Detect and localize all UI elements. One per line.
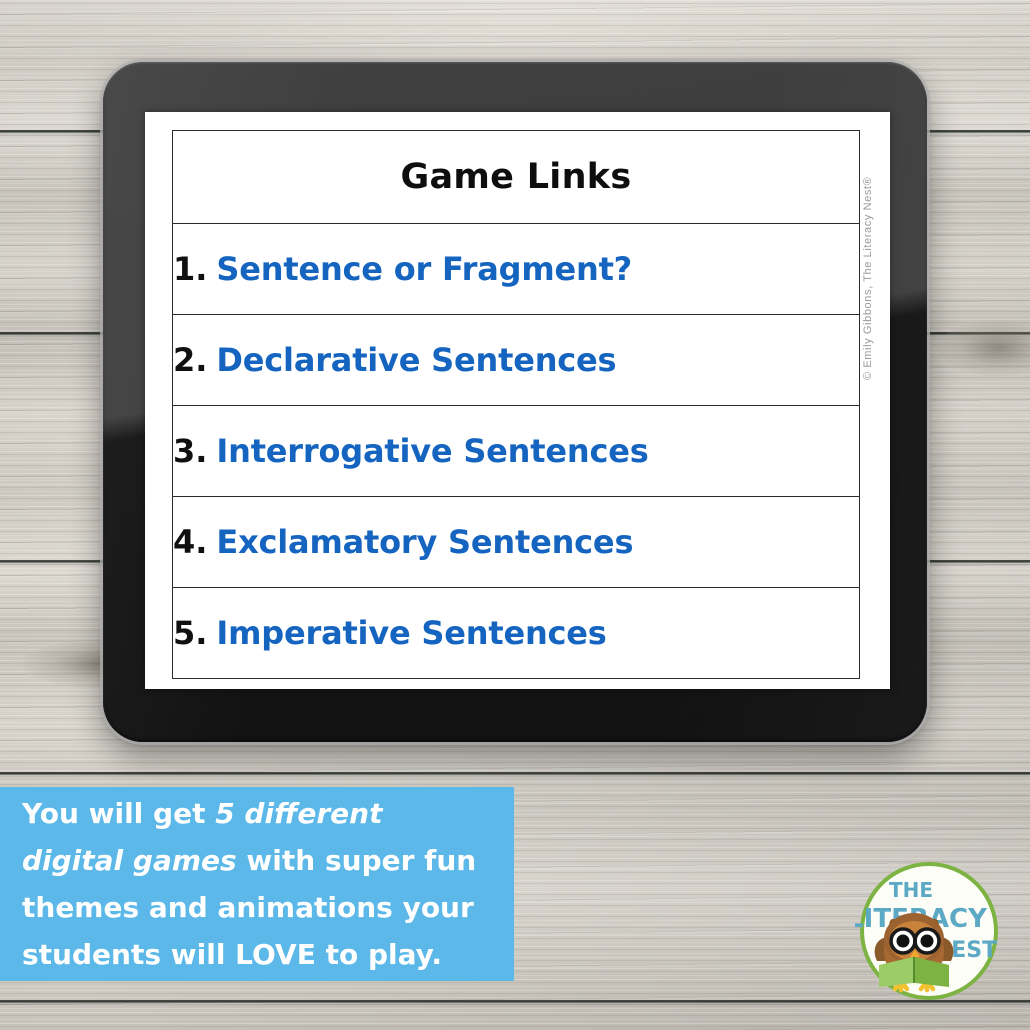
table-row: 3. Interrogative Sentences xyxy=(173,406,860,497)
game-link-imperative-sentences[interactable]: Imperative Sentences xyxy=(216,614,606,652)
list-number: 1. xyxy=(173,250,207,288)
game-links-table: Game Links 1. Sentence or Fragment? 2. xyxy=(172,130,860,679)
literacy-nest-logo-icon: THE LITERACY NEST xyxy=(855,857,1003,1005)
list-number: 4. xyxy=(173,523,207,561)
caption-lead: You will get xyxy=(22,797,215,830)
caption-text: You will get 5 different digital games w… xyxy=(0,790,514,978)
slide-preview-stage: Game Links 1. Sentence or Fragment? 2. xyxy=(0,0,1030,1030)
game-links-slide: Game Links 1. Sentence or Fragment? 2. xyxy=(172,130,860,673)
brand-logo: THE LITERACY NEST xyxy=(855,857,1003,1005)
table-row: 2. Declarative Sentences xyxy=(173,315,860,406)
table-row: 4. Exclamatory Sentences xyxy=(173,497,860,588)
game-link-interrogative-sentences[interactable]: Interrogative Sentences xyxy=(216,432,648,470)
table-header-row: Game Links xyxy=(173,131,860,224)
list-number: 5. xyxy=(173,614,207,652)
game-link-row-4[interactable]: 4. Exclamatory Sentences xyxy=(173,497,860,588)
game-link-row-2[interactable]: 2. Declarative Sentences xyxy=(173,315,860,406)
page-title: Game Links xyxy=(400,157,631,197)
slide-title-cell: Game Links xyxy=(173,131,860,224)
list-number: 2. xyxy=(173,341,207,379)
game-link-row-1[interactable]: 1. Sentence or Fragment? xyxy=(173,224,860,315)
game-link-sentence-or-fragment[interactable]: Sentence or Fragment? xyxy=(216,250,632,288)
list-number: 3. xyxy=(173,432,207,470)
game-link-declarative-sentences[interactable]: Declarative Sentences xyxy=(216,341,616,379)
caption-box: You will get 5 different digital games w… xyxy=(0,787,514,981)
table-row: 1. Sentence or Fragment? xyxy=(173,224,860,315)
logo-line-1: THE xyxy=(889,878,933,902)
game-link-exclamatory-sentences[interactable]: Exclamatory Sentences xyxy=(216,523,633,561)
game-link-row-3[interactable]: 3. Interrogative Sentences xyxy=(173,406,860,497)
game-link-row-5[interactable]: 5. Imperative Sentences xyxy=(173,588,860,679)
copyright-notice: © Emily Gibbons, The Literacy Nest® xyxy=(862,177,874,380)
table-row: 5. Imperative Sentences xyxy=(173,588,860,679)
